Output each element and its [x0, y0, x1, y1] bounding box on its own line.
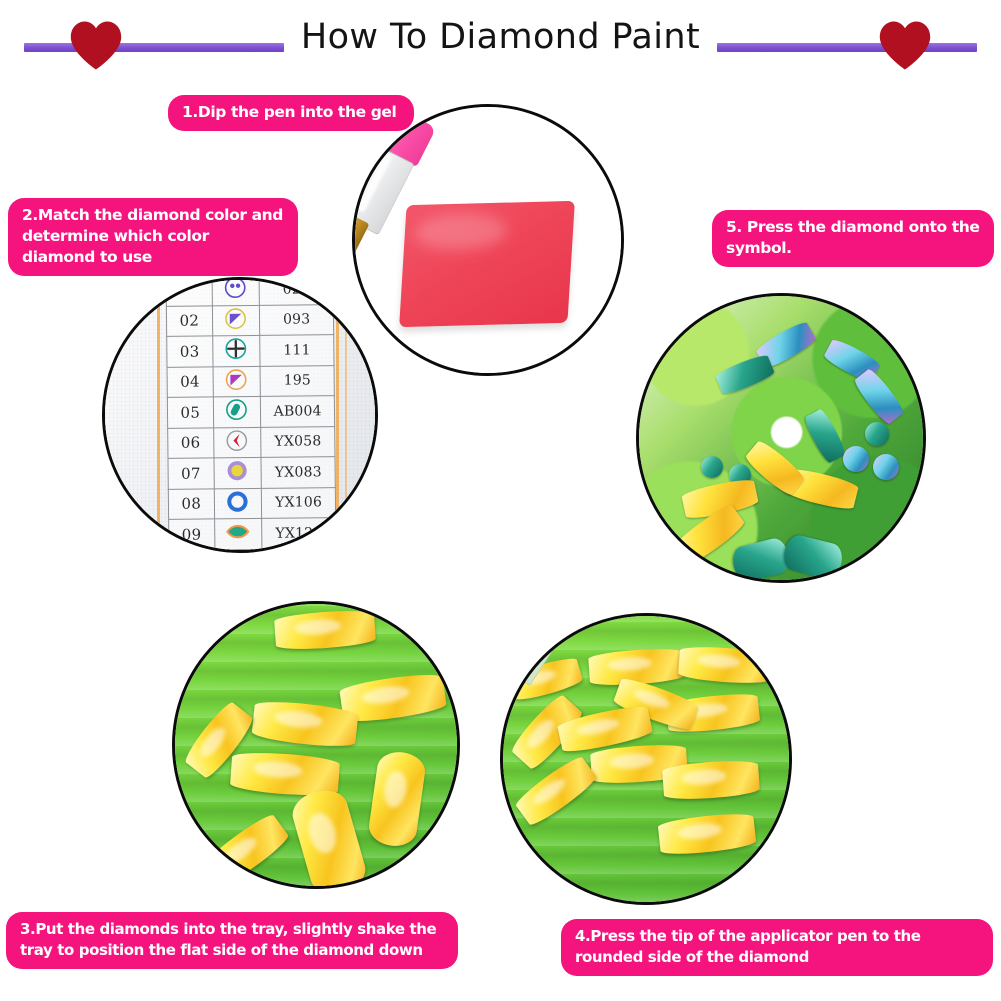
legend-row-number: 09	[169, 519, 215, 550]
step-4-caption: 4.Press the tip of the applicator pen to…	[561, 919, 993, 976]
step-4-photo	[500, 613, 792, 905]
legend-row: 09YX125	[169, 518, 336, 550]
legend-row-code: 111	[260, 335, 334, 366]
legend-symbol-left-chevron-icon	[213, 427, 261, 458]
orange-stripe	[157, 280, 160, 550]
legend-row: 05AB004	[167, 396, 334, 428]
legend-symbol-double-dot-circle-icon	[212, 277, 260, 305]
gel-pad	[399, 201, 575, 327]
legend-symbol-triangle-wedge-icon	[212, 305, 260, 336]
legend-symbol-triangle-wedge-icon	[213, 366, 261, 397]
legend-row-code: 093	[260, 304, 334, 335]
legend-symbol-filled-dot-icon	[214, 457, 262, 488]
page-header: How To Diamond Paint	[0, 0, 1001, 80]
legend-row-number: 03	[167, 336, 213, 367]
legend-row: 02093	[166, 304, 333, 336]
step-5-photo	[636, 293, 926, 583]
step-3-caption: 3.Put the diamonds into the tray, slight…	[6, 912, 458, 969]
legend-row: 07YX083	[168, 457, 335, 489]
legend-symbol-ring-donut-icon	[214, 488, 262, 519]
diamond-drill	[873, 454, 899, 480]
legend-row-code: AB004	[261, 396, 335, 427]
legend-row-number: 06	[168, 427, 214, 458]
legend-row: 08YX106	[168, 487, 335, 519]
legend-table-body: 02002093031110419505AB00406YX05807YX0830…	[166, 277, 336, 550]
orange-stripe	[336, 280, 339, 550]
legend-row-code: YX083	[261, 457, 335, 488]
step-1-caption: 1.Dip the pen into the gel	[168, 95, 414, 131]
legend-row-code: YX058	[261, 426, 335, 457]
legend-row-number: 08	[168, 488, 214, 519]
legend-row-number	[166, 277, 212, 306]
legend-row: 06YX058	[168, 426, 335, 458]
step-2-photo: 02002093031110419505AB00406YX05807YX0830…	[102, 277, 378, 553]
step-5-caption: 5. Press the diamond onto the symbol.	[712, 210, 994, 267]
legend-row-code: YX106	[262, 487, 336, 518]
legend-row-number: 05	[167, 397, 213, 428]
step-1-photo	[352, 104, 624, 376]
step-2-caption: 2.Match the diamond color and determine …	[8, 198, 298, 276]
page-title: How To Diamond Paint	[0, 14, 1001, 60]
legend-row-number: 02	[166, 305, 212, 336]
color-legend-table: 02002093031110419505AB00406YX05807YX0830…	[166, 277, 337, 550]
legend-row-code: 195	[260, 365, 334, 396]
pen-tip	[352, 216, 369, 254]
legend-row: 03111	[167, 335, 334, 367]
legend-row-code: 020	[259, 277, 333, 305]
legend-symbol-leaf-marquise-icon	[214, 518, 262, 549]
diamond-drill	[843, 446, 869, 472]
legend-row-code: YX125	[262, 518, 336, 549]
diamond-drill	[701, 456, 723, 478]
legend-row: 020	[166, 277, 333, 306]
diamond-drill	[865, 422, 889, 446]
legend-row: 04195	[167, 365, 334, 397]
legend-symbol-plus-cross-icon	[212, 335, 260, 366]
legend-row-number: 04	[167, 366, 213, 397]
legend-symbol-slanted-capsule-icon	[213, 396, 261, 427]
step-3-photo	[172, 601, 460, 889]
legend-row-number: 07	[168, 458, 214, 489]
orange-stripe	[345, 280, 347, 550]
